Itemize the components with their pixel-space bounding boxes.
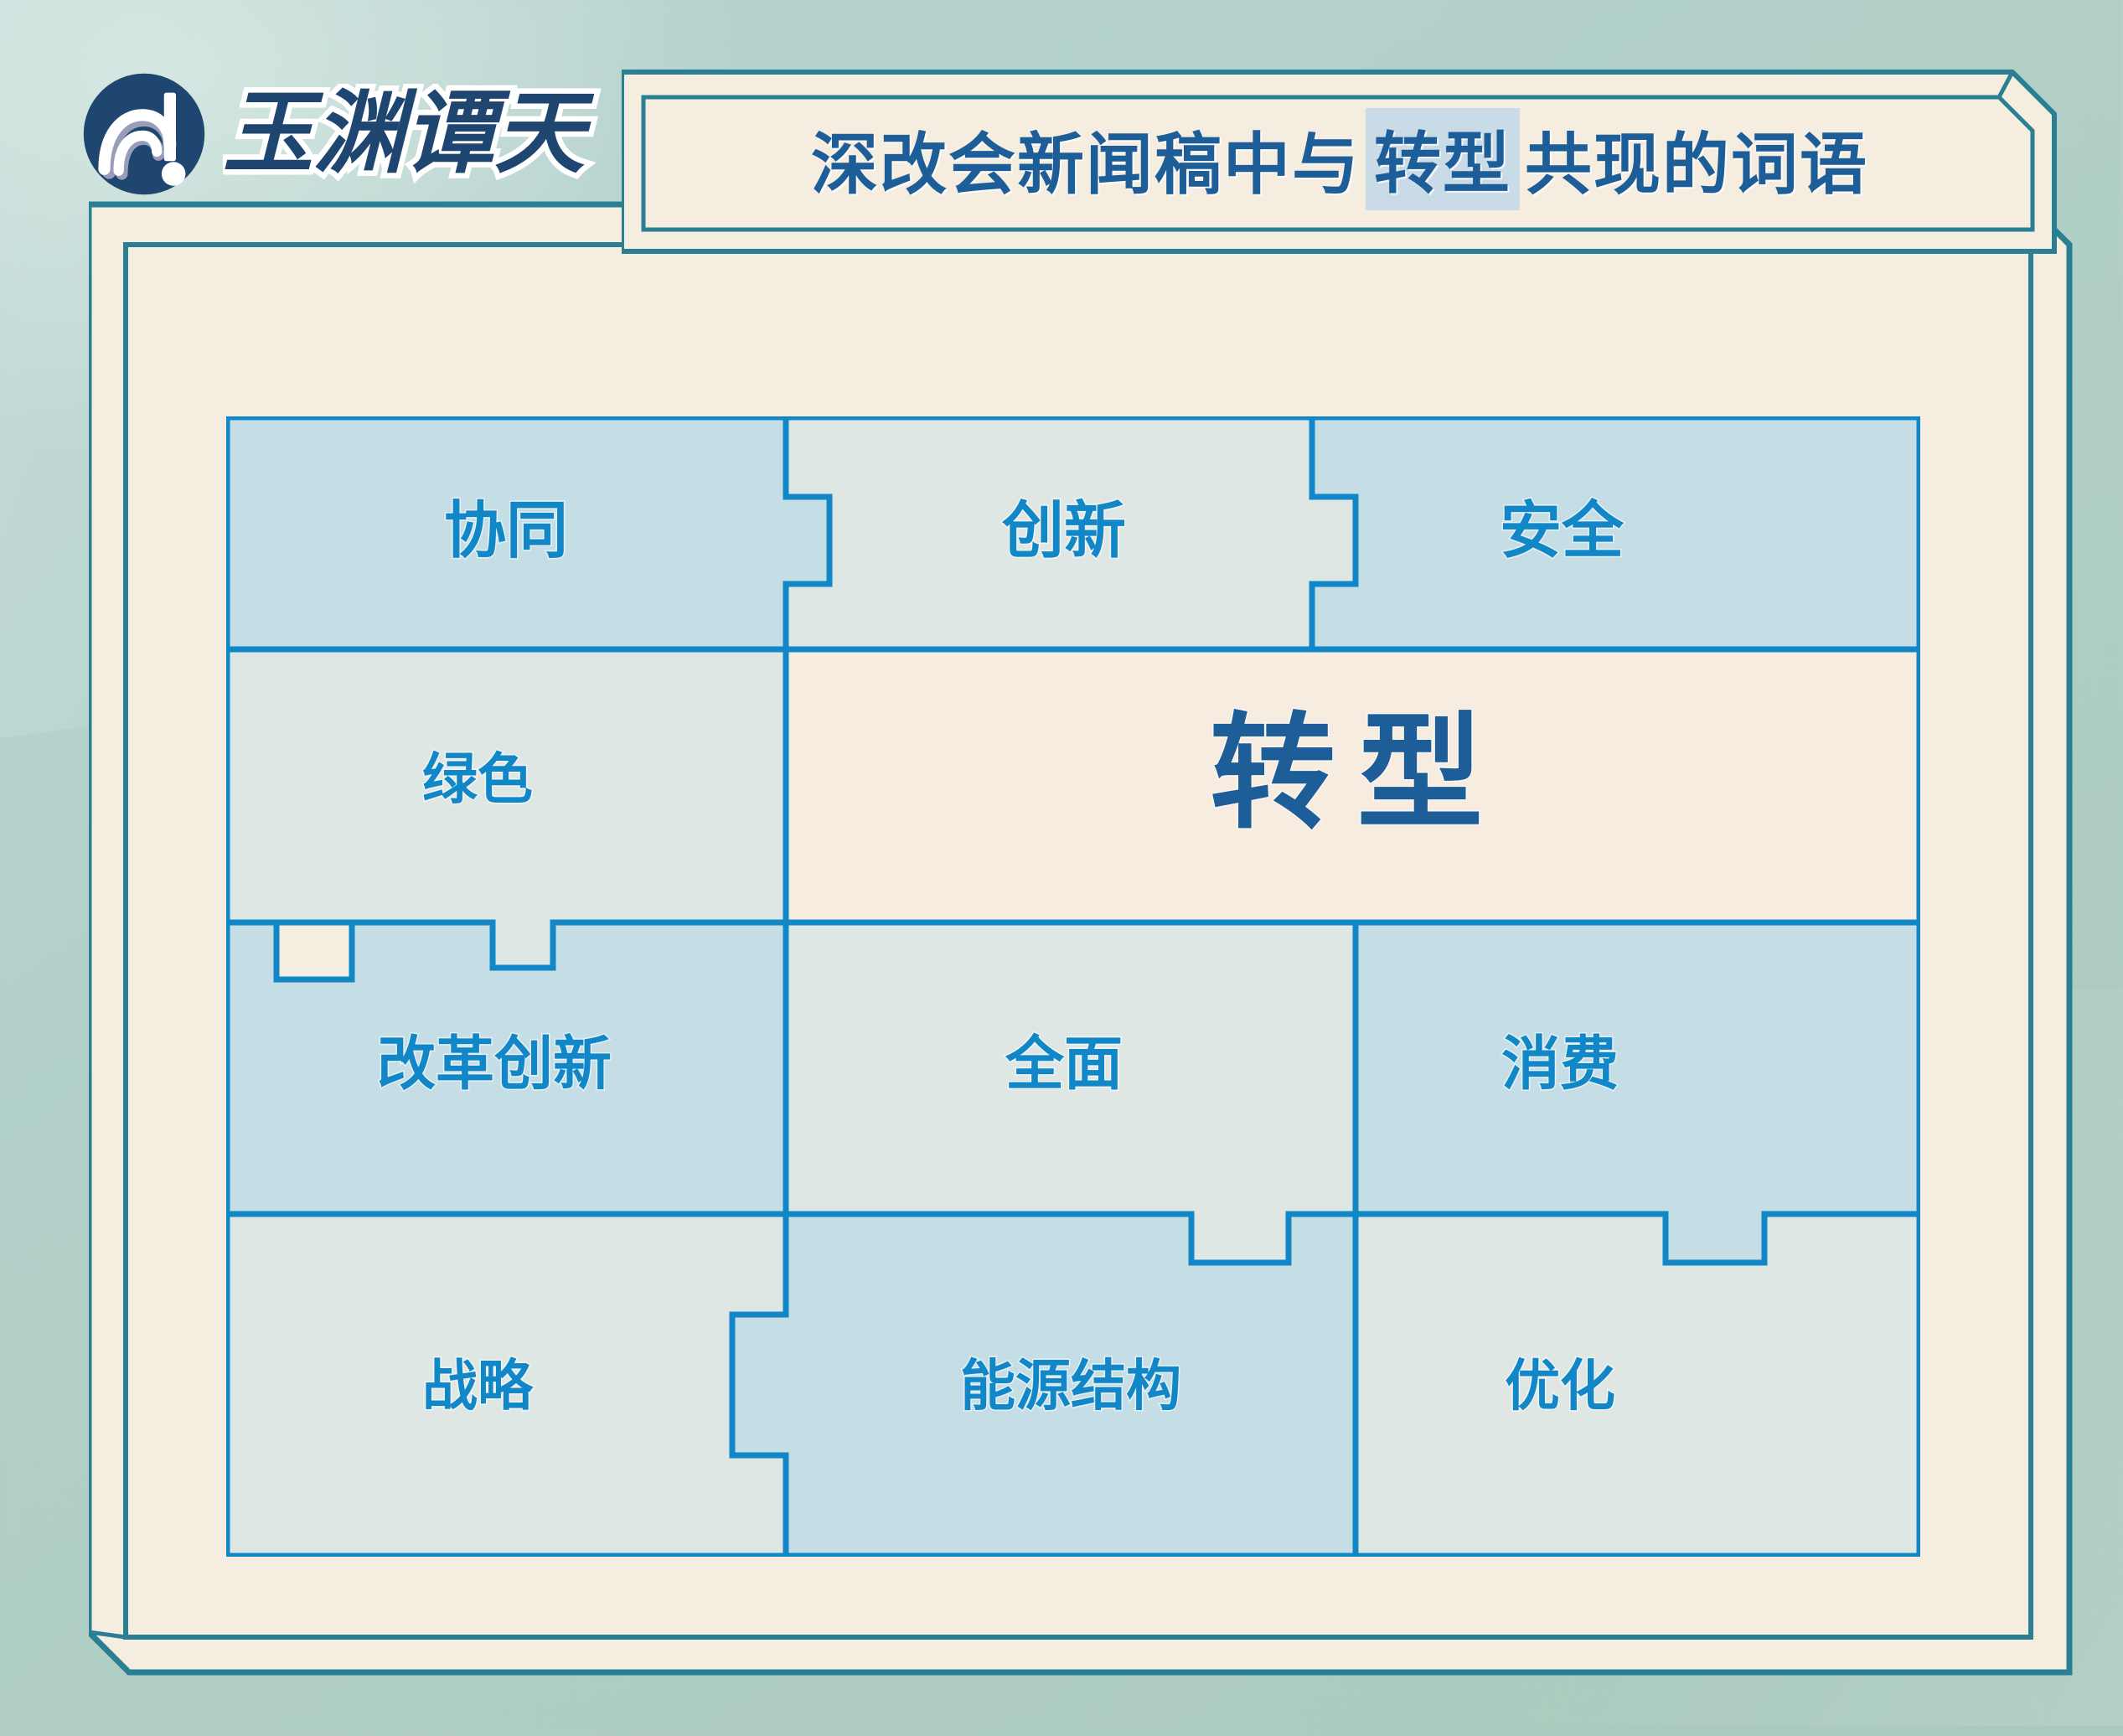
tile-label-lvse: 绿色 — [422, 747, 533, 809]
tile-label-xiaofei: 消费 — [1501, 1031, 1619, 1096]
title-prefix: 深改会新闻稿中与 — [811, 111, 1361, 208]
tile-label-zhanlue: 战略 — [422, 1354, 534, 1416]
tile-label-zhuanxing: 转型 — [1210, 703, 1505, 844]
title-highlight-term: 转型 — [1366, 108, 1520, 210]
tile-label-chuangxin: 创新 — [1001, 496, 1126, 566]
tile-label-xietong: 协同 — [444, 496, 568, 566]
page-title: 深改会新闻稿中与 转型 共现的词语 — [622, 69, 2058, 255]
title-suffix: 共现的词语 — [1525, 111, 1868, 208]
brand-wordmark-text: 玉渊谭天 — [223, 85, 595, 184]
tile-label-gaigechuangxin: 改革创新 — [377, 1031, 612, 1096]
brand-wordmark: 玉渊谭天 — [223, 84, 617, 184]
brand-logo: 玉渊谭天 — [80, 70, 617, 198]
wave-ripple-logo-icon — [80, 70, 208, 198]
tile-label-quanmian: 全面 — [1005, 1031, 1123, 1096]
puzzle-grid-svg: .pz { stroke:#1287c8; stroke-width:7; st… — [226, 416, 1920, 1557]
cooccurrence-puzzle-grid: .pz { stroke:#1287c8; stroke-width:7; st… — [226, 416, 1920, 1557]
title-banner: 深改会新闻稿中与 转型 共现的词语 — [622, 69, 2058, 255]
tile-label-nengyuanjiegou: 能源结构 — [960, 1354, 1181, 1416]
tile-youhua[interactable] — [1356, 1214, 1920, 1557]
tile-label-anquan: 安全 — [1500, 496, 1625, 566]
tile-label-youhua: 优化 — [1505, 1354, 1615, 1416]
